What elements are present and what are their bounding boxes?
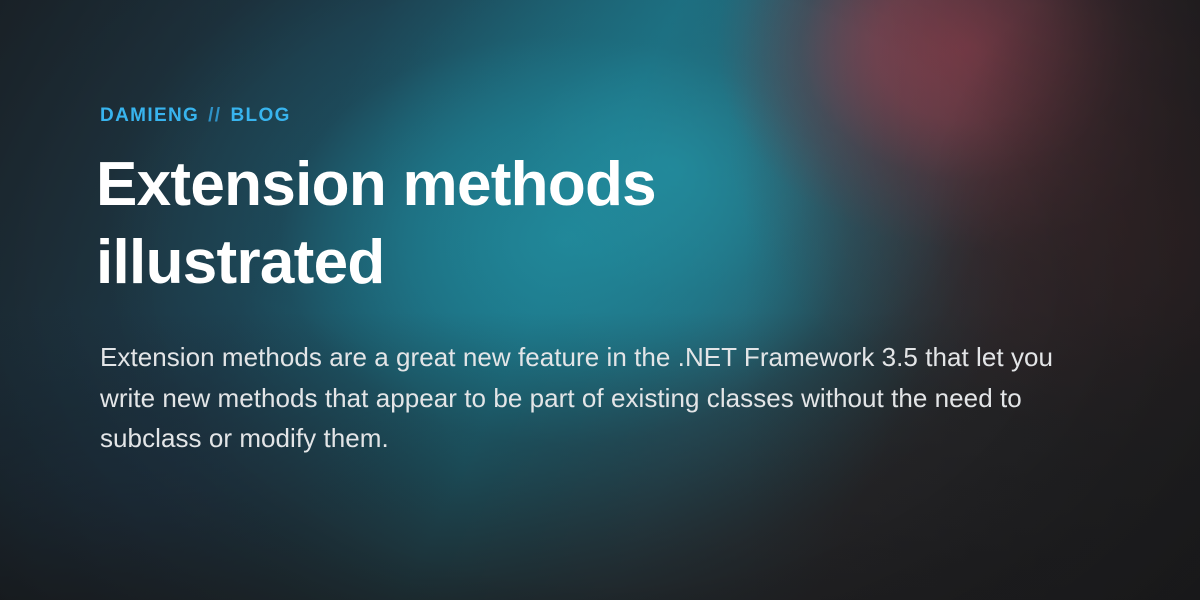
post-excerpt: Extension methods are a great new featur… xyxy=(100,337,1095,459)
breadcrumb-separator: // xyxy=(208,105,221,126)
breadcrumb: DAMIENG//BLOG xyxy=(100,106,291,125)
breadcrumb-section-link[interactable]: BLOG xyxy=(230,105,290,126)
card-content: DAMIENG//BLOG Extension methods illustra… xyxy=(100,0,1100,600)
page-title: Extension methods illustrated xyxy=(96,146,776,302)
social-share-card: DAMIENG//BLOG Extension methods illustra… xyxy=(0,0,1200,600)
breadcrumb-site-link[interactable]: DAMIENG xyxy=(100,105,199,126)
